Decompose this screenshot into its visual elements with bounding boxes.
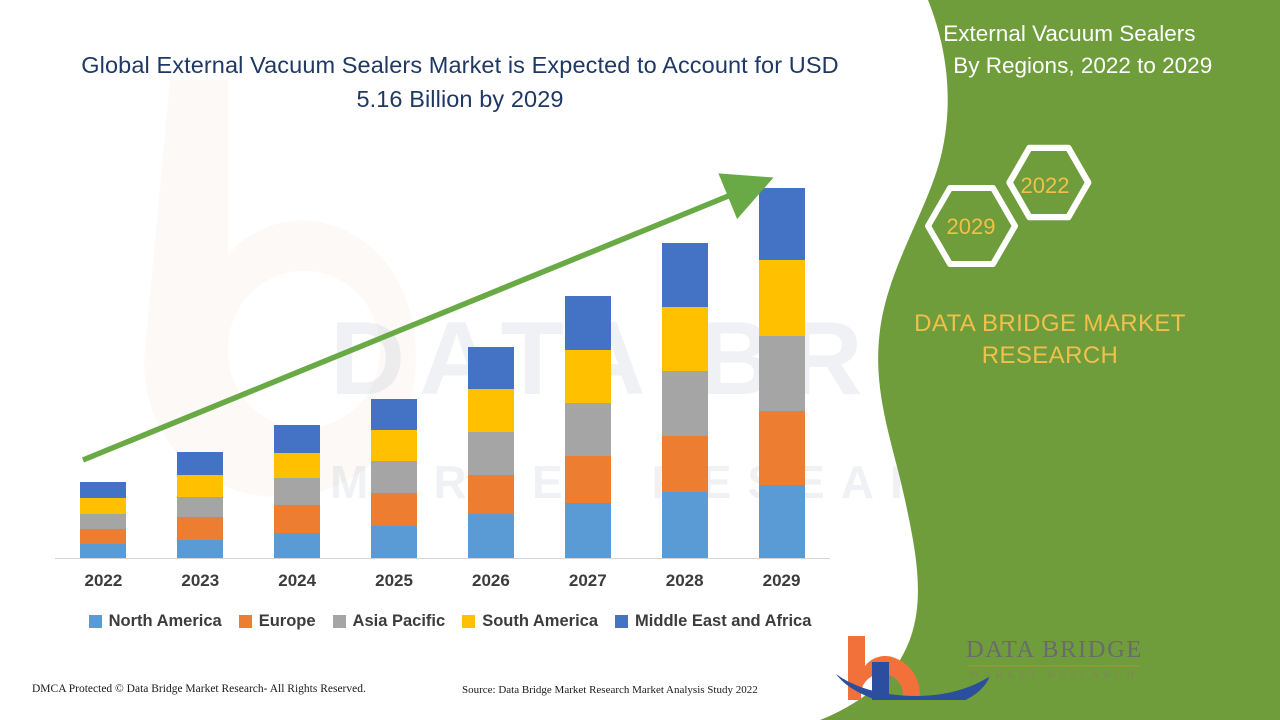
stacked-bar <box>274 425 320 558</box>
bar-segment <box>662 371 708 436</box>
hexagon-2022-label: 2022 <box>1000 173 1090 199</box>
bar-column <box>637 150 733 558</box>
bar-column <box>249 150 345 558</box>
bar-column <box>55 150 151 558</box>
x-axis-tick-label: 2023 <box>152 571 248 591</box>
x-axis-tick-label: 2029 <box>734 571 830 591</box>
stacked-bar <box>759 188 805 558</box>
stacked-bar <box>80 482 126 558</box>
logo-primary-text: DATA BRIDGE <box>966 636 1143 664</box>
legend-label: South America <box>482 612 598 631</box>
bar-segment <box>177 517 223 540</box>
x-axis-tick-label: 2022 <box>55 571 151 591</box>
source-note: Source: Data Bridge Market Research Mark… <box>462 684 758 696</box>
bar-segment <box>662 307 708 371</box>
chart-panel: DATA BRIDGE MARKET RESEARCH Global Exter… <box>0 0 900 720</box>
legend-label: Asia Pacific <box>353 612 446 631</box>
bar-segment <box>177 540 223 558</box>
panel-title: Global External Vacuum Sealers Market, B… <box>872 18 1262 81</box>
legend-swatch-icon <box>615 615 628 628</box>
x-axis-line <box>55 558 830 559</box>
hexagon-2029-label: 2029 <box>926 214 1016 240</box>
bar-segment <box>759 411 805 485</box>
chart-title: Global External Vacuum Sealers Market is… <box>60 48 860 116</box>
x-axis-tick-label: 2028 <box>637 571 733 591</box>
bar-segment <box>177 475 223 497</box>
stacked-bar <box>468 347 514 558</box>
stacked-bar <box>565 296 611 558</box>
bar-segment <box>565 296 611 350</box>
bar-segment <box>371 526 417 558</box>
bar-column <box>734 150 830 558</box>
bar-segment <box>80 514 126 529</box>
bar-segment <box>468 432 514 475</box>
bar-segment <box>274 425 320 453</box>
legend-swatch-icon <box>333 615 346 628</box>
bar-segment <box>274 453 320 478</box>
legend-swatch-icon <box>239 615 252 628</box>
bar-segment <box>662 243 708 307</box>
legend-label: North America <box>109 612 222 631</box>
bar-segment <box>565 350 611 403</box>
logo-divider <box>968 665 1140 667</box>
bar-segment <box>371 493 417 526</box>
legend-label: Europe <box>259 612 316 631</box>
x-axis-tick-label: 2024 <box>249 571 345 591</box>
bar-chart-plot <box>55 150 830 558</box>
bar-segment <box>759 188 805 260</box>
x-axis-tick-label: 2027 <box>540 571 636 591</box>
bar-segment <box>565 503 611 558</box>
brand-name: DATA BRIDGE MARKET RESEARCH <box>850 308 1250 373</box>
legend-item[interactable]: Europe <box>239 612 316 631</box>
bar-segment <box>662 436 708 492</box>
bar-column <box>443 150 539 558</box>
bar-column <box>540 150 636 558</box>
bar-segment <box>80 544 126 558</box>
bar-segment <box>759 485 805 558</box>
bar-segment <box>80 482 126 498</box>
bar-segment <box>80 529 126 544</box>
legend-label: Middle East and Africa <box>635 612 811 631</box>
hexagon-2022-shape <box>1010 148 1089 217</box>
bar-segment <box>80 498 126 514</box>
bar-segment <box>371 399 417 430</box>
bar-segment <box>759 260 805 336</box>
infographic-root: DATA BRIDGE MARKET RESEARCH Global Exter… <box>0 0 1280 720</box>
legend-item[interactable]: Middle East and Africa <box>615 612 811 631</box>
chart-legend: North AmericaEuropeAsia PacificSouth Ame… <box>55 612 845 631</box>
bar-segment <box>468 389 514 432</box>
bar-segment <box>565 456 611 503</box>
legend-item[interactable]: South America <box>462 612 598 631</box>
bar-segment <box>177 452 223 475</box>
dmca-notice: DMCA Protected © Data Bridge Market Rese… <box>32 683 366 695</box>
company-logo-text: DATA BRIDGE MARKET RESEARCH <box>966 636 1143 681</box>
stacked-bar <box>371 399 417 558</box>
stacked-bar <box>662 243 708 558</box>
hexagon-2029-shape <box>928 188 1015 264</box>
x-axis-labels: 20222023202420252026202720282029 <box>55 566 830 596</box>
bar-segment <box>565 403 611 456</box>
legend-swatch-icon <box>89 615 102 628</box>
bar-segment <box>371 430 417 461</box>
legend-item[interactable]: Asia Pacific <box>333 612 446 631</box>
bar-segment <box>274 478 320 505</box>
logo-secondary-text: MARKET RESEARCH <box>969 669 1143 681</box>
legend-swatch-icon <box>462 615 475 628</box>
bar-column <box>152 150 248 558</box>
x-axis-tick-label: 2026 <box>443 571 539 591</box>
bar-segment <box>468 514 514 558</box>
bar-segment <box>371 461 417 493</box>
bar-segment <box>468 347 514 389</box>
bar-segment <box>662 492 708 558</box>
bar-column <box>346 150 442 558</box>
x-axis-tick-label: 2025 <box>346 571 442 591</box>
bar-segment <box>177 497 223 517</box>
stacked-bar <box>177 452 223 558</box>
bar-segment <box>274 533 320 558</box>
bar-segment <box>759 336 805 411</box>
bar-segment <box>274 505 320 533</box>
legend-item[interactable]: North America <box>89 612 222 631</box>
bar-segment <box>468 475 514 514</box>
